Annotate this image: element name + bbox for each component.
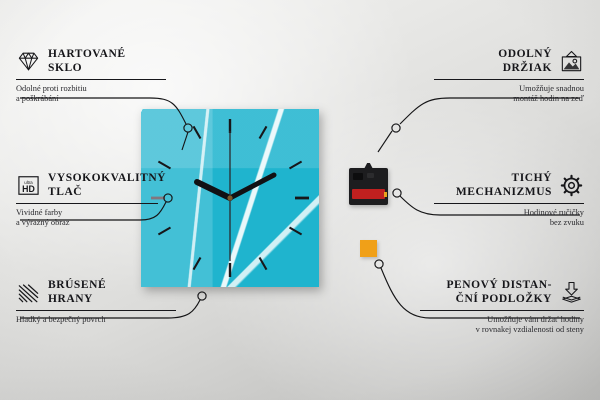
gear-icon xyxy=(559,173,584,198)
feature-subtitle-line2: montáž hodin na zeď xyxy=(434,94,584,104)
wire-dot-edges xyxy=(198,292,206,300)
infographic-canvas: HARTOVANÉ SKLO Odolné proti rozbitiu a p… xyxy=(0,0,600,400)
feature-foam-spacers: PENOVÝ DISTAN- ČNÍ PODLOŽKY Umožňuje vám… xyxy=(420,279,584,336)
feature-divider xyxy=(16,79,166,80)
wire-tail-holder xyxy=(378,131,392,152)
feature-title-line1: BRÚSENÉ xyxy=(48,279,106,293)
feature-subtitle-line2: bez zvuku xyxy=(434,218,584,228)
picture-hanger-icon xyxy=(559,49,584,74)
feature-title-line1: TICHÝ xyxy=(456,172,552,186)
feature-high-quality-print: ultra HD VYSOKOKVALITNÝ TLAČ Vividné far… xyxy=(16,172,158,229)
feature-title-line1: HARTOVANÉ xyxy=(48,48,126,62)
feature-title-line2: SKLO xyxy=(48,62,126,76)
wire-dot-holder xyxy=(392,124,400,132)
feature-title-line2: ČNÍ PODLOŽKY xyxy=(446,293,552,307)
feature-tempered-glass: HARTOVANÉ SKLO Odolné proti rozbitiu a p… xyxy=(16,48,166,105)
polished-edges-icon xyxy=(16,280,41,305)
diamond-icon xyxy=(16,49,41,74)
feature-silent-mechanism: TICHÝ MECHANIZMUS Hodinové ručičky bez z… xyxy=(434,172,584,229)
feature-subtitle-line2: a výrazný obraz xyxy=(16,218,158,228)
feature-title-line2: DRŽIAK xyxy=(498,62,552,76)
wire-tail-glass xyxy=(182,132,188,150)
feature-subtitle-line1: Vividné farby xyxy=(16,208,158,218)
feature-divider xyxy=(16,310,176,311)
feature-title-line1: ODOLNÝ xyxy=(498,48,552,62)
feature-divider xyxy=(420,310,584,311)
feature-title-line2: TLAČ xyxy=(48,186,166,200)
feature-polished-edges: BRÚSENÉ HRANY Hladký a bezpečný povrch xyxy=(16,279,176,325)
feature-title-line2: MECHANIZMUS xyxy=(456,186,552,200)
wire-dot-glass xyxy=(184,124,192,132)
ultra-hd-badge-icon: ultra HD xyxy=(16,173,41,198)
feature-subtitle-line2: v rovnakej vzdialenosti od steny xyxy=(420,325,584,335)
hd-label: HD xyxy=(22,184,35,194)
wire-dot-foam xyxy=(375,260,383,268)
feature-durable-hanger: ODOLNÝ DRŽIAK Umožňuje snadnou montáž ho… xyxy=(434,48,584,105)
feature-title-line2: HRANY xyxy=(48,293,106,307)
feature-title-line1: VYSOKOKVALITNÝ xyxy=(48,172,166,186)
feature-subtitle-line1: Hodinové ručičky xyxy=(434,208,584,218)
feature-divider xyxy=(434,203,584,204)
feature-subtitle-line2: a poškrábání xyxy=(16,94,166,104)
feature-subtitle-line1: Odolné proti rozbitiu xyxy=(16,84,166,94)
foam-spacer-icon xyxy=(559,280,584,305)
feature-divider xyxy=(16,203,158,204)
wire-dot-mech xyxy=(393,189,401,197)
feature-subtitle-line1: Hladký a bezpečný povrch xyxy=(16,315,176,325)
feature-subtitle-line1: Umožňuje vám držať hodiny xyxy=(420,315,584,325)
feature-divider xyxy=(434,79,584,80)
feature-title-line1: PENOVÝ DISTAN- xyxy=(446,279,552,293)
feature-subtitle-line1: Umožňuje snadnou xyxy=(434,84,584,94)
